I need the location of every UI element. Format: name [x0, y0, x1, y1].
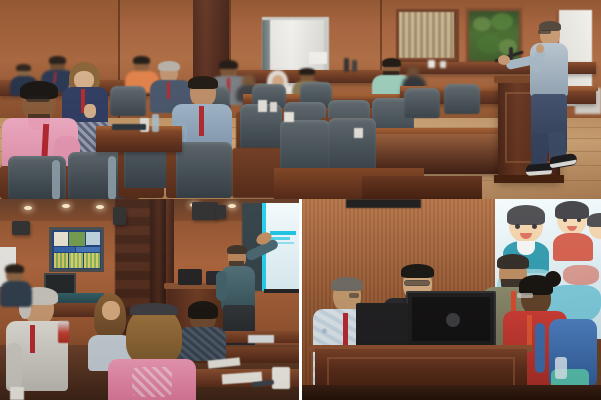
eyeglasses	[404, 280, 430, 286]
paper-cup	[272, 367, 290, 389]
cartoon-body	[553, 233, 593, 261]
top-lace-pattern	[132, 367, 172, 397]
person-woman-pink-top-foreground	[108, 305, 198, 400]
panel-group-at-lectern	[299, 199, 601, 400]
water-bottle-red	[58, 321, 69, 343]
cup-back-desk-2	[440, 61, 446, 68]
laptop-secondary	[356, 303, 408, 351]
photo-collage	[0, 0, 601, 400]
panel-lecture-hall-audience	[0, 0, 601, 199]
eyeglasses	[349, 293, 359, 298]
bottle-back-desk-2	[352, 60, 357, 72]
hair-bun	[545, 271, 561, 287]
arm	[216, 271, 227, 301]
ceiling-display	[346, 199, 421, 208]
wall-sign	[309, 52, 327, 64]
paper-cup	[354, 128, 363, 138]
wall-monitor	[49, 227, 104, 272]
chair	[176, 142, 232, 198]
desk-foreground-2	[362, 176, 482, 199]
paper-cup	[284, 112, 294, 122]
person-back-left-bl	[0, 265, 34, 305]
paper-cup	[258, 100, 267, 112]
eyeglasses	[26, 96, 50, 102]
lectern-monitor	[178, 269, 202, 285]
cartoon-hair	[587, 213, 601, 227]
chair	[404, 88, 440, 118]
loudspeaker	[12, 221, 30, 235]
chair	[444, 84, 480, 114]
panel-divider-vertical	[299, 199, 302, 400]
cartoon-hair	[507, 205, 545, 225]
laptop	[406, 291, 496, 353]
bottle-back-desk	[344, 58, 349, 72]
paper-cup	[10, 387, 24, 400]
cup-back-desk	[428, 60, 435, 68]
hand	[84, 104, 96, 118]
loudspeaker	[216, 205, 226, 219]
water-bottle	[555, 357, 567, 379]
window-curtain	[399, 12, 454, 58]
desk-front-left	[96, 130, 182, 152]
chair	[328, 118, 376, 174]
headband	[130, 303, 178, 315]
window-frame-left	[396, 9, 459, 63]
water-bottle	[152, 114, 159, 132]
panel-presenter-pointing-at-screen	[0, 199, 299, 400]
laptop-logo	[446, 313, 460, 327]
paper-sheet	[248, 335, 274, 343]
paper-cup	[270, 102, 277, 112]
person-speaker	[520, 22, 582, 180]
loudspeaker	[192, 202, 218, 220]
cartoon-hair	[555, 201, 589, 219]
chair-strap	[52, 160, 60, 199]
arm	[6, 343, 22, 389]
eyeglasses	[517, 293, 533, 298]
chair-strap	[108, 156, 116, 199]
chair	[110, 86, 146, 116]
slide-heading-bar	[270, 231, 296, 235]
backpack-strap	[535, 323, 545, 373]
notebook	[112, 124, 146, 130]
lectern-base	[299, 385, 601, 400]
eyeglasses	[538, 30, 551, 34]
loudspeaker	[113, 207, 126, 225]
